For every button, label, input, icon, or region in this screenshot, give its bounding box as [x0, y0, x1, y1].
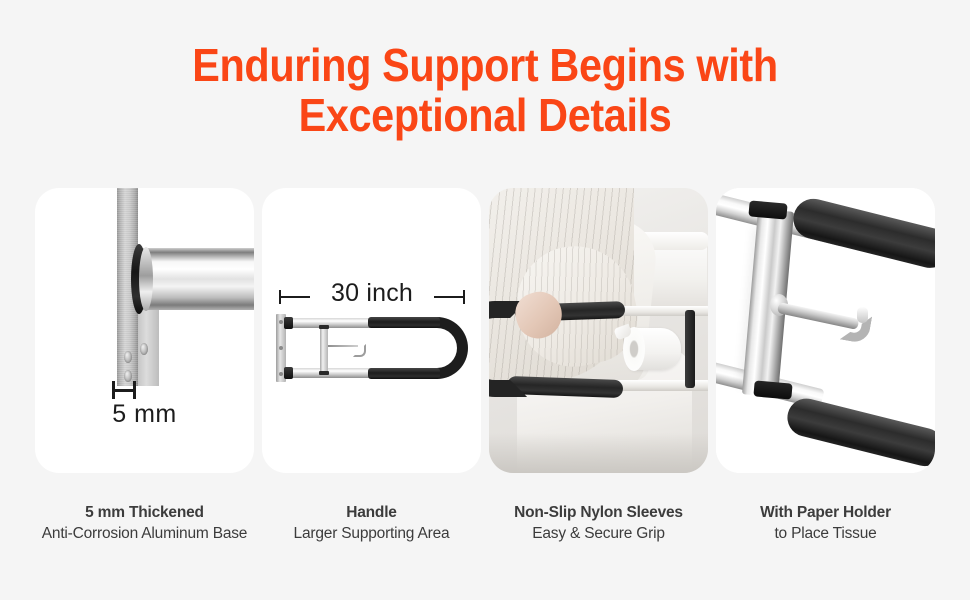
- thickness-dimension-label: 5 mm: [35, 400, 254, 429]
- caption-title: With Paper Holder: [716, 502, 935, 523]
- length-dimension-label: 30 inch: [276, 279, 468, 308]
- caption-subtitle: Easy & Secure Grip: [489, 523, 708, 544]
- caption-nylon-sleeves: Non-Slip Nylon Sleeves Easy & Secure Gri…: [489, 502, 708, 544]
- length-dimension-marker-icon: 30 inch: [276, 284, 468, 310]
- post-end-cap: [748, 200, 787, 219]
- bathroom-floor: [489, 433, 708, 473]
- nylon-sleeve-graphic: [368, 317, 440, 328]
- chrome-collar-graphic: [139, 247, 153, 311]
- page-title: Enduring Support Begins with Exceptional…: [49, 40, 922, 140]
- feature-caption-row: 5 mm Thickened Anti-Corrosion Aluminum B…: [35, 502, 935, 544]
- nylon-sleeve-graphic: [789, 195, 935, 273]
- caption-paper-holder: With Paper Holder to Place Tissue: [716, 502, 935, 544]
- pivot-joint-graphic: [284, 317, 293, 329]
- page-title-line-1: Enduring Support Begins with: [49, 40, 922, 90]
- post-end-cap: [753, 380, 792, 399]
- paper-holder-bracket: [685, 310, 695, 388]
- feature-card-paper-holder[interactable]: [716, 188, 935, 473]
- feature-card-grid: 5 mm 30 inch: [35, 188, 935, 473]
- caption-handle-length: Handle Larger Supporting Area: [262, 502, 481, 544]
- caption-subtitle: Anti-Corrosion Aluminum Base: [35, 523, 254, 544]
- screw-hole-icon: [124, 351, 132, 363]
- grab-bar-diagram: [276, 314, 468, 386]
- caption-title: Handle: [262, 502, 481, 523]
- cross-support-post-graphic: [320, 326, 328, 374]
- page-title-line-2: Exceptional Details: [49, 90, 922, 140]
- paper-holder-hook-icon: [328, 345, 362, 357]
- paper-holder-photo: [716, 188, 935, 473]
- thickness-dimension-marker-icon: [112, 381, 142, 399]
- caption-aluminum-base: 5 mm Thickened Anti-Corrosion Aluminum B…: [35, 502, 254, 544]
- caption-title: 5 mm Thickened: [35, 502, 254, 523]
- infographic-page: Enduring Support Begins with Exceptional…: [0, 0, 970, 600]
- nylon-sleeve-graphic: [783, 395, 935, 471]
- caption-title: Non-Slip Nylon Sleeves: [489, 502, 708, 523]
- caption-subtitle: to Place Tissue: [716, 523, 935, 544]
- caption-subtitle: Larger Supporting Area: [262, 523, 481, 544]
- screw-hole-icon: [140, 343, 148, 355]
- pivot-joint-graphic: [284, 367, 293, 379]
- feature-card-nylon-sleeves[interactable]: [489, 188, 708, 473]
- lifestyle-photo: [489, 188, 708, 473]
- feature-card-handle-length[interactable]: 30 inch: [262, 188, 481, 473]
- feature-card-aluminum-base[interactable]: 5 mm: [35, 188, 254, 473]
- paper-holder-hook-tip: [857, 307, 868, 323]
- nylon-sleeve-graphic: [368, 368, 440, 379]
